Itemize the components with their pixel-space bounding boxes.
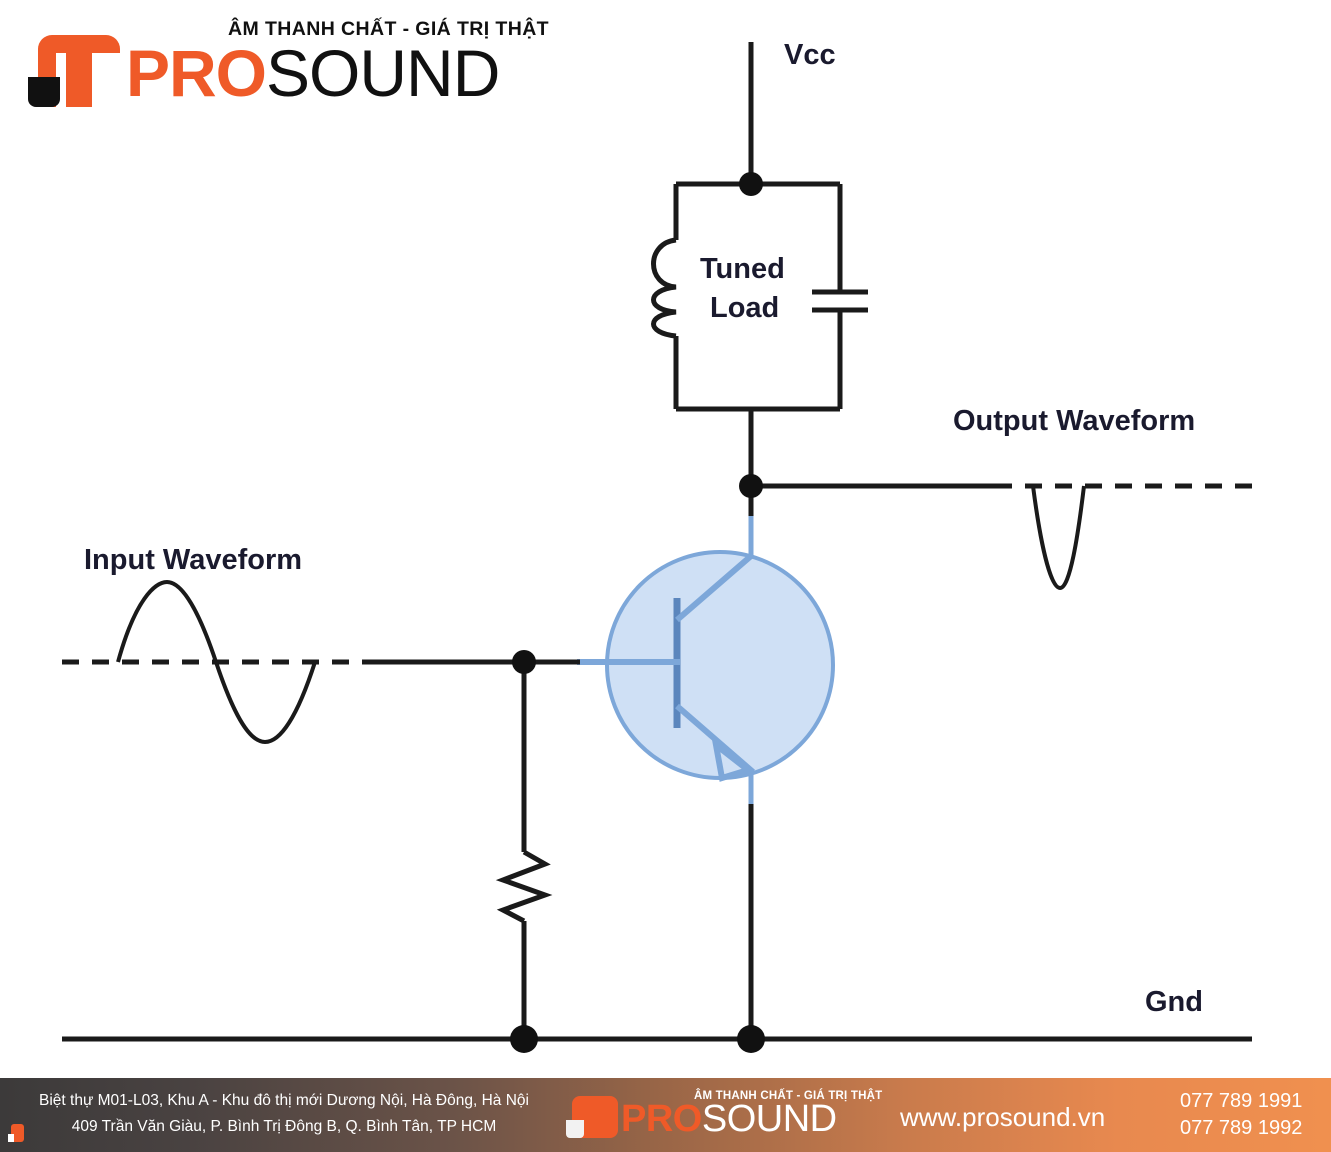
- footer-phone-1[interactable]: 077 789 1991: [1180, 1088, 1302, 1115]
- circuit-svg: [0, 0, 1331, 1060]
- footer-brand-logo: ÂM THANH CHẤT - GIÁ TRỊ THẬT PROSOUND: [566, 1090, 866, 1142]
- label-output-waveform: Output Waveform: [953, 405, 1195, 438]
- output-waveform-pulse: [1033, 486, 1084, 588]
- footer-address: Biệt thự M01-L03, Khu A - Khu đô thị mới…: [14, 1088, 554, 1140]
- junction-dot-vcc: [739, 172, 763, 196]
- footer-logo-mark-icon: [566, 1096, 618, 1138]
- footer-address-line2: 409 Trần Văn Giàu, P. Bình Trị Đông B, Q…: [14, 1114, 554, 1140]
- label-gnd: Gnd: [1145, 986, 1203, 1019]
- footer-wordmark-sound: SOUND: [702, 1098, 837, 1140]
- junction-dot-output: [739, 474, 763, 498]
- junction-dot-ground-left: [510, 1025, 538, 1053]
- label-tuned-load-line1: Tuned: [700, 253, 785, 286]
- label-vcc: Vcc: [784, 39, 836, 72]
- footer-address-line1: Biệt thự M01-L03, Khu A - Khu đô thị mới…: [14, 1088, 554, 1114]
- page-root: ÂM THANH CHẤT - GIÁ TRỊ THẬT PROSOUND: [0, 0, 1331, 1152]
- inductor-icon: [654, 240, 677, 336]
- junction-dot-ground-right: [737, 1025, 765, 1053]
- footer-bar: Biệt thự M01-L03, Khu A - Khu đô thị mới…: [0, 1078, 1331, 1152]
- footer-brand-wordmark: PROSOUND: [621, 1100, 837, 1138]
- label-tuned-load-line2: Load: [710, 292, 779, 325]
- footer-wordmark-pro: PRO: [621, 1098, 702, 1140]
- label-input-waveform: Input Waveform: [84, 544, 302, 577]
- footer-phone-2[interactable]: 077 789 1992: [1180, 1115, 1302, 1142]
- circuit-diagram: Vcc Tuned Load Output Waveform Input Wav…: [0, 0, 1331, 1060]
- footer-phone-numbers: 077 789 1991 077 789 1992: [1180, 1088, 1302, 1142]
- footer-website-link[interactable]: www.prosound.vn: [900, 1102, 1105, 1133]
- junction-dot-base: [512, 650, 536, 674]
- resistor-icon: [503, 852, 545, 921]
